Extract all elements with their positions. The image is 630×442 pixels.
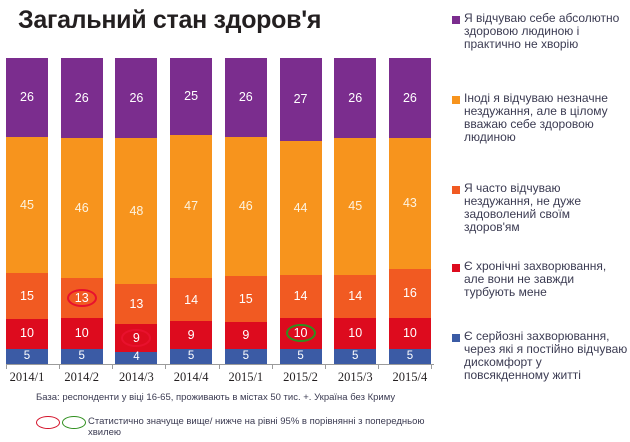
bar-segment-value: 26 bbox=[348, 92, 362, 105]
bar-segment-value: 16 bbox=[403, 287, 417, 300]
legend-serious-illness[interactable]: Є серйозні захворювання, через які я пос… bbox=[452, 330, 628, 382]
bar-segment-value: 46 bbox=[75, 202, 89, 215]
x-axis-tick bbox=[6, 364, 7, 369]
bar-segment[interactable]: 5 bbox=[6, 349, 48, 364]
bar-segment[interactable]: 26 bbox=[334, 58, 376, 138]
green-ellipse-icon bbox=[62, 416, 86, 429]
bar-segment-value: 9 bbox=[133, 332, 140, 345]
bar-segment-value: 10 bbox=[403, 327, 417, 340]
legend-often-unwell[interactable]: Я часто відчуваю нездужання, не дуже зад… bbox=[452, 182, 628, 234]
bar-segment[interactable]: 26 bbox=[115, 58, 157, 138]
bar-segment[interactable]: 10 bbox=[6, 319, 48, 349]
bar-segment[interactable]: 26 bbox=[61, 58, 103, 138]
x-axis-tick bbox=[59, 364, 60, 369]
bar-segment-value: 14 bbox=[348, 290, 362, 303]
bar-segment[interactable]: 5 bbox=[170, 349, 212, 364]
bar-segment-value: 25 bbox=[184, 90, 198, 103]
bar-segment[interactable]: 9 bbox=[115, 324, 157, 352]
bar-group[interactable]: 264613105 bbox=[61, 58, 103, 364]
x-axis-tick-label: 2014/3 bbox=[115, 370, 157, 385]
bar-segment[interactable]: 10 bbox=[61, 318, 103, 349]
significance-key-icons bbox=[36, 416, 88, 429]
legend-color-swatch-icon bbox=[452, 334, 460, 342]
bar-segment-value: 26 bbox=[20, 91, 34, 104]
bar-segment-value: 10 bbox=[20, 327, 34, 340]
legend-chronic-illness[interactable]: Є хронічні захворювання, але вони не зав… bbox=[452, 260, 628, 299]
legend-color-swatch-icon bbox=[452, 186, 460, 194]
x-axis-line bbox=[6, 364, 434, 365]
bar-group[interactable]: 274414105 bbox=[280, 58, 322, 364]
bar-segment-value: 4 bbox=[133, 352, 139, 364]
chart-page: Загальний стан здоров'я 2645151052646131… bbox=[0, 0, 630, 442]
x-axis-tick-label: 2015/1 bbox=[225, 370, 267, 385]
bar-group[interactable]: 264316105 bbox=[389, 58, 431, 364]
bar-segment[interactable]: 26 bbox=[6, 58, 48, 137]
bar-segment[interactable]: 15 bbox=[6, 273, 48, 318]
bar-segment-value: 15 bbox=[239, 293, 253, 306]
bar-segment-value: 47 bbox=[184, 200, 198, 213]
bar-segment[interactable]: 46 bbox=[61, 138, 103, 279]
bar-segment-value: 5 bbox=[188, 351, 194, 363]
bar-segment-value: 5 bbox=[352, 351, 358, 363]
bar-group[interactable]: 25471495 bbox=[170, 58, 212, 364]
page-title: Загальний стан здоров'я bbox=[18, 6, 321, 35]
x-axis-tick-label: 2015/4 bbox=[389, 370, 431, 385]
bar-segment[interactable]: 44 bbox=[280, 141, 322, 276]
x-axis-tick bbox=[272, 364, 273, 369]
legend-color-swatch-icon bbox=[452, 96, 460, 104]
bar-segment[interactable]: 14 bbox=[170, 278, 212, 321]
x-axis-tick-label: 2014/4 bbox=[170, 370, 212, 385]
bar-segment[interactable]: 46 bbox=[225, 137, 267, 276]
bar-segment-value: 43 bbox=[403, 197, 417, 210]
bar-segment-value: 5 bbox=[24, 351, 30, 363]
bar-segment[interactable]: 47 bbox=[170, 135, 212, 279]
bar-segment-value: 10 bbox=[75, 327, 89, 340]
x-axis-tick bbox=[431, 364, 432, 369]
x-axis-tick bbox=[112, 364, 113, 369]
red-ellipse-icon bbox=[36, 416, 60, 429]
bar-segment[interactable]: 5 bbox=[334, 349, 376, 364]
significance-note-text: Статистично значуще вище/ нижче на рівні… bbox=[88, 416, 436, 438]
bar-segment-value: 10 bbox=[348, 327, 362, 340]
bar-segment-value: 14 bbox=[184, 294, 198, 307]
bar-segment[interactable]: 9 bbox=[170, 321, 212, 349]
legend-color-swatch-icon bbox=[452, 264, 460, 272]
bar-segment-value: 5 bbox=[407, 351, 413, 363]
bar-segment-value: 5 bbox=[297, 351, 303, 363]
bar-segment[interactable]: 10 bbox=[280, 318, 322, 349]
bar-segment-value: 13 bbox=[129, 298, 143, 311]
legend-item-label: Я відчуваю себе абсолютно здоровою людин… bbox=[464, 12, 628, 51]
bar-segment-value: 45 bbox=[20, 199, 34, 212]
bar-segment[interactable]: 16 bbox=[389, 269, 431, 318]
stacked-bar-plot-area: 2645151052646131052648139425471495264615… bbox=[6, 58, 431, 364]
bar-segment[interactable]: 5 bbox=[225, 349, 267, 364]
bar-segment-value: 26 bbox=[239, 91, 253, 104]
bar-segment[interactable]: 14 bbox=[334, 275, 376, 318]
legend-item-label: Є хронічні захворювання, але вони не зав… bbox=[464, 260, 628, 299]
x-axis-tick-label: 2014/2 bbox=[61, 370, 103, 385]
chart-legend: Я відчуваю себе абсолютно здоровою людин… bbox=[452, 4, 628, 334]
legend-color-swatch-icon bbox=[452, 16, 460, 24]
bar-segment[interactable]: 5 bbox=[61, 349, 103, 364]
bar-segment[interactable]: 15 bbox=[225, 276, 267, 321]
bar-segment[interactable]: 48 bbox=[115, 138, 157, 285]
bar-segment[interactable]: 5 bbox=[280, 349, 322, 364]
bar-segment-value: 5 bbox=[79, 351, 85, 363]
legend-sometimes-unwell[interactable]: Іноді я відчуваю незначне нездужання, ал… bbox=[452, 92, 628, 144]
bar-segment[interactable]: 13 bbox=[61, 278, 103, 318]
bar-segment[interactable]: 10 bbox=[334, 318, 376, 349]
bar-segment[interactable]: 14 bbox=[280, 275, 322, 318]
legend-item-label: Я часто відчуваю нездужання, не дуже зад… bbox=[464, 182, 628, 234]
legend-item-label: Іноді я відчуваю незначне нездужання, ал… bbox=[464, 92, 628, 144]
bar-group[interactable]: 26481394 bbox=[115, 58, 157, 364]
bar-segment-value: 15 bbox=[20, 290, 34, 303]
bar-group[interactable]: 264515105 bbox=[6, 58, 48, 364]
bar-segment[interactable]: 4 bbox=[115, 352, 157, 364]
bar-segment-value: 10 bbox=[294, 327, 308, 340]
x-axis-tick bbox=[325, 364, 326, 369]
bar-segment-value: 27 bbox=[294, 93, 308, 106]
bar-segment-value: 26 bbox=[129, 92, 143, 105]
footnote-base: База: респонденти у віці 16-65, проживаю… bbox=[36, 392, 436, 403]
legend-absolutely-healthy[interactable]: Я відчуваю себе абсолютно здоровою людин… bbox=[452, 12, 628, 51]
bar-segment[interactable]: 43 bbox=[389, 138, 431, 270]
bar-segment-value: 5 bbox=[243, 351, 249, 363]
bar-segment-value: 26 bbox=[403, 92, 417, 105]
x-axis-tick bbox=[165, 364, 166, 369]
bar-segment[interactable]: 10 bbox=[389, 318, 431, 349]
bar-segment[interactable]: 27 bbox=[280, 58, 322, 141]
bar-segment-value: 44 bbox=[294, 202, 308, 215]
bar-segment[interactable]: 9 bbox=[225, 322, 267, 349]
bar-segment[interactable]: 26 bbox=[225, 58, 267, 137]
x-axis-tick-label: 2015/3 bbox=[334, 370, 376, 385]
bar-group[interactable]: 264514105 bbox=[334, 58, 376, 364]
bar-segment[interactable]: 45 bbox=[6, 137, 48, 273]
bar-segment[interactable]: 5 bbox=[389, 349, 431, 364]
bar-segment[interactable]: 25 bbox=[170, 58, 212, 135]
x-axis-tick-label: 2015/2 bbox=[280, 370, 322, 385]
x-axis-tick bbox=[219, 364, 220, 369]
x-axis-tick-label: 2014/1 bbox=[6, 370, 48, 385]
bar-segment[interactable]: 26 bbox=[389, 58, 431, 138]
bar-segment-value: 9 bbox=[188, 329, 195, 342]
bar-segment[interactable]: 45 bbox=[334, 138, 376, 276]
bar-segment-value: 26 bbox=[75, 92, 89, 105]
x-axis-tick bbox=[378, 364, 379, 369]
bar-group[interactable]: 26461595 bbox=[225, 58, 267, 364]
bar-segment-value: 45 bbox=[348, 200, 362, 213]
legend-item-label: Є серйозні захворювання, через які я пос… bbox=[464, 330, 628, 382]
bar-segment-value: 48 bbox=[129, 205, 143, 218]
footnote-significance: Статистично значуще вище/ нижче на рівні… bbox=[36, 416, 436, 438]
bar-segment-value: 9 bbox=[242, 329, 249, 342]
bar-segment-value: 14 bbox=[294, 290, 308, 303]
bar-segment-value: 13 bbox=[75, 292, 89, 305]
x-axis-labels: 2014/12014/22014/32014/42015/12015/22015… bbox=[6, 370, 431, 385]
bar-segment-value: 46 bbox=[239, 200, 253, 213]
bar-segment[interactable]: 13 bbox=[115, 284, 157, 324]
